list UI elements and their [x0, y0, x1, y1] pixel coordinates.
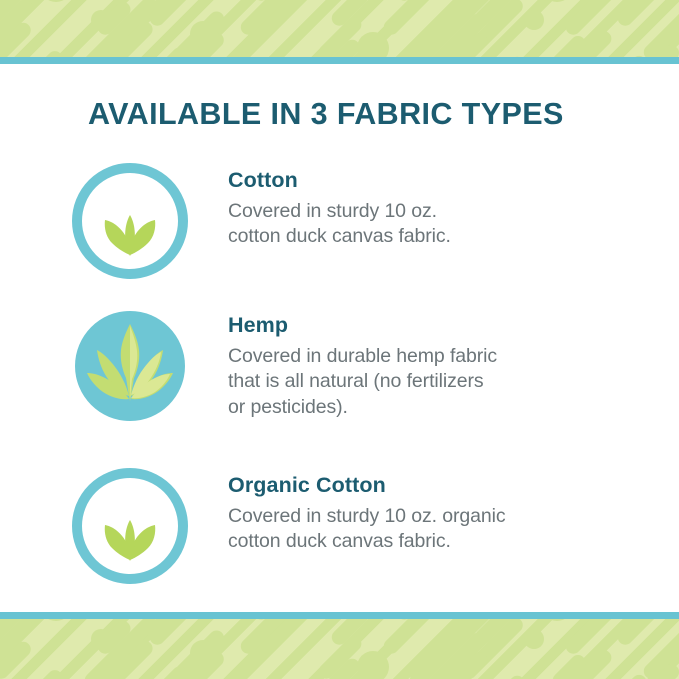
- pattern-dash: [615, 0, 664, 29]
- infographic-page: AVAILABLE IN 3 FABRIC TYPES Cotton Cover…: [0, 0, 679, 679]
- pattern-dash: [17, 48, 66, 57]
- pattern-dot: [524, 10, 544, 30]
- fabric-heading: Hemp: [228, 314, 648, 337]
- fabric-text-hemp: Hemp Covered in durable hemp fabric that…: [228, 314, 648, 421]
- fabric-description-line: that is all natural (no fertilizers: [228, 369, 648, 395]
- fabric-text-organic-cotton: Organic Cotton Covered in sturdy 10 oz. …: [228, 474, 648, 555]
- fabric-text-cotton: Cotton Covered in sturdy 10 oz. cotton d…: [228, 169, 648, 250]
- fabric-description: Covered in sturdy 10 oz. organic cotton …: [228, 504, 648, 555]
- pattern-dot: [40, 0, 72, 2]
- bottom-teal-divider: [0, 612, 679, 619]
- fabric-description-line: Covered in durable hemp fabric: [228, 344, 648, 370]
- rounded-dash-texture: [0, 0, 679, 57]
- pattern-dash: [17, 667, 66, 679]
- fabric-heading: Organic Cotton: [228, 474, 648, 497]
- fabric-heading: Cotton: [228, 169, 648, 192]
- page-title: AVAILABLE IN 3 FABRIC TYPES: [88, 97, 564, 132]
- fabric-description-line: Covered in sturdy 10 oz. organic: [228, 504, 648, 530]
- fabric-description-line: or pesticides).: [228, 395, 648, 421]
- fabric-description: Covered in durable hemp fabric that is a…: [228, 344, 648, 421]
- pattern-dot: [190, 21, 216, 47]
- hemp-leaf-icon: [72, 308, 188, 424]
- pattern-dot: [91, 10, 111, 30]
- pattern-dash: [485, 673, 528, 679]
- fabric-description-line: Covered in sturdy 10 oz.: [228, 199, 648, 225]
- pattern-dot: [357, 651, 389, 679]
- cotton-boll-icon: [72, 468, 188, 584]
- pattern-dot: [524, 629, 544, 649]
- rounded-dash-texture: [0, 619, 679, 679]
- fabric-description-line: cotton duck canvas fabric.: [228, 529, 648, 555]
- top-teal-divider: [0, 57, 679, 64]
- fabric-description: Covered in sturdy 10 oz. cotton duck can…: [228, 199, 648, 250]
- top-pattern-band: [0, 0, 679, 57]
- pattern-dot: [190, 640, 216, 666]
- pattern-dot: [91, 629, 111, 649]
- pattern-dot: [40, 619, 72, 621]
- pattern-dash: [615, 619, 664, 648]
- cotton-boll-icon: [72, 163, 188, 279]
- fabric-description-line: cotton duck canvas fabric.: [228, 224, 648, 250]
- bottom-pattern-band: [0, 619, 679, 679]
- pattern-dot: [357, 32, 389, 57]
